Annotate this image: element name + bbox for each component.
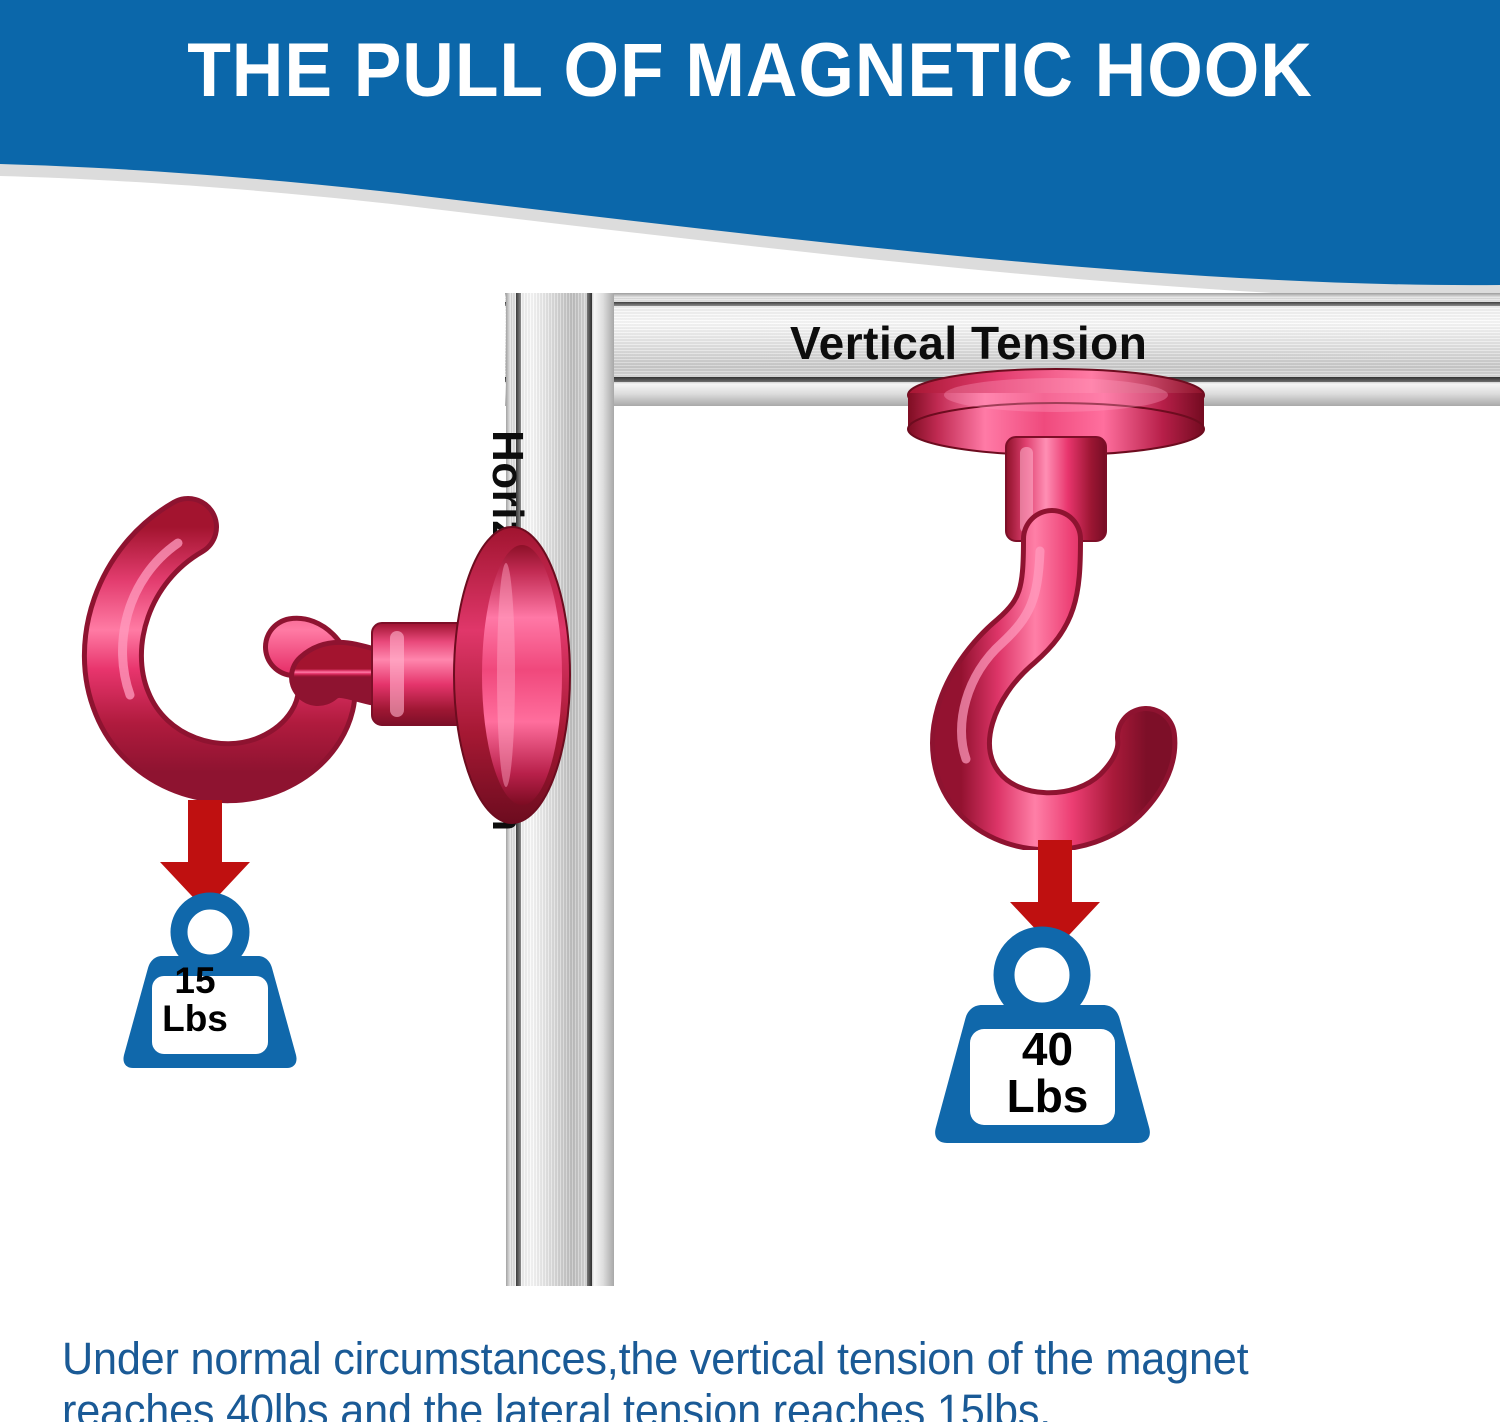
magnet-disc-highlight xyxy=(944,378,1168,412)
weight-value: 15 xyxy=(140,962,250,1000)
weight-label-15lbs: 15 Lbs xyxy=(140,962,250,1037)
weight-value: 40 xyxy=(975,1026,1120,1073)
header-band: THE PULL OF MAGNETIC HOOK xyxy=(0,0,1500,300)
magnet-disc-highlight xyxy=(497,563,515,787)
caption-block: Under normal circumstances,the vertical … xyxy=(62,1333,1396,1422)
hook-body xyxy=(961,539,1146,821)
weight-unit: Lbs xyxy=(975,1073,1120,1120)
hook-shank xyxy=(318,669,378,677)
hook-neck-highlight xyxy=(390,631,404,717)
beam-top-groove xyxy=(505,302,1500,306)
page-title: THE PULL OF MAGNETIC HOOK xyxy=(45,30,1455,112)
beam-right-groove xyxy=(587,293,592,1286)
beam-top-edge xyxy=(505,293,1500,298)
weight-ring xyxy=(1004,937,1080,1013)
hook-body xyxy=(113,527,327,772)
infographic-page: THE PULL OF MAGNETIC HOOK Vertical Tensi… xyxy=(0,0,1500,1422)
vertical-magnetic-hook xyxy=(880,355,1230,850)
beam-right-lip xyxy=(594,293,614,1286)
caption-line-2: reaches 40lbs and the lateral tension re… xyxy=(62,1385,1396,1422)
weight-unit: Lbs xyxy=(140,1000,250,1038)
caption-line-1: Under normal circumstances,the vertical … xyxy=(62,1333,1396,1385)
weight-label-40lbs: 40 Lbs xyxy=(975,1026,1120,1120)
magnet-disc-face xyxy=(482,545,562,805)
horizontal-magnetic-hook xyxy=(60,495,580,845)
weight-ring xyxy=(179,901,241,963)
